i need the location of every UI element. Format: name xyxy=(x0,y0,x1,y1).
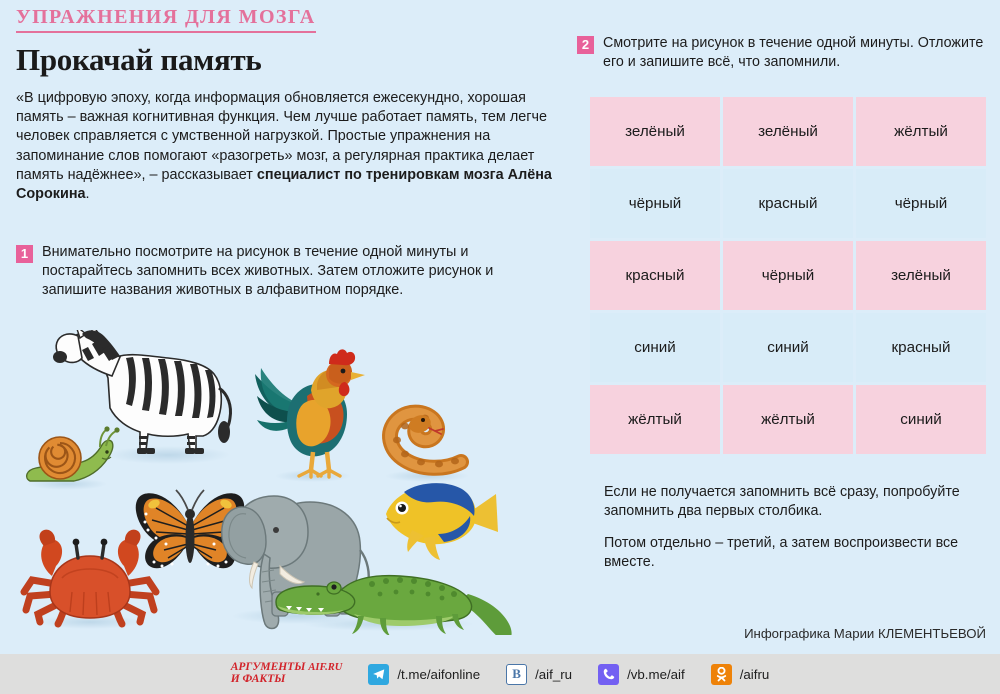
table-cell: синий xyxy=(856,385,986,454)
social-link-viber[interactable]: /vb.me/aif xyxy=(598,664,685,685)
page-title: Прокачай память xyxy=(16,42,572,78)
rooster-illustration xyxy=(255,349,365,482)
left-column: УПРАЖНЕНИЯ ДЛЯ МОЗГА Прокачай память «В … xyxy=(16,6,572,204)
social-label-vk: /aif_ru xyxy=(535,667,572,682)
infographic-page: УПРАЖНЕНИЯ ДЛЯ МОЗГА Прокачай память «В … xyxy=(0,0,1000,694)
credit-line: Инфографика Марии КЛЕМЕНТЬЕВОЙ xyxy=(744,626,986,641)
instruction-step-1: 1 Внимательно посмотрите на рисунок в те… xyxy=(16,243,536,300)
table-cell: жёлтый xyxy=(590,385,720,454)
table-cell: чёрный xyxy=(856,169,986,238)
social-link-vk[interactable]: B /aif_ru xyxy=(506,664,572,685)
table-cell: красный xyxy=(856,313,986,382)
intro-text-part-2: . xyxy=(86,186,90,202)
aif-logo: АРГУМЕНТЫ И ФАКТЫ AIF.RU xyxy=(231,662,343,685)
viber-icon xyxy=(598,664,619,685)
kicker-label: УПРАЖНЕНИЯ ДЛЯ МОЗГА xyxy=(16,6,316,33)
intro-paragraph: «В цифровую эпоху, когда информация обно… xyxy=(16,89,564,204)
snail-illustration xyxy=(27,426,120,490)
vk-icon: B xyxy=(506,664,527,685)
table-cell: синий xyxy=(590,313,720,382)
odnoklassniki-icon xyxy=(711,664,732,685)
table-cell: зелёный xyxy=(590,97,720,166)
aif-logo-line-2: И ФАКТЫ xyxy=(231,674,306,686)
table-cell: красный xyxy=(723,169,853,238)
instruction-step-2: 2 Смотрите на рисунок в течение одной ми… xyxy=(577,34,989,72)
step-number-badge-1: 1 xyxy=(16,245,33,263)
social-label-odnoklassniki: /aifru xyxy=(740,667,770,682)
telegram-icon xyxy=(368,664,389,685)
social-link-telegram[interactable]: /t.me/aifonline xyxy=(368,664,480,685)
table-cell: красный xyxy=(590,241,720,310)
table-cell: чёрный xyxy=(590,169,720,238)
table-cell: зелёный xyxy=(856,241,986,310)
table-cell: чёрный xyxy=(723,241,853,310)
fish-illustration xyxy=(386,483,498,560)
tip-block: Если не получается запомнить всё сразу, … xyxy=(604,483,994,572)
crab-illustration xyxy=(24,530,156,629)
aif-logo-text: АРГУМЕНТЫ И ФАКТЫ xyxy=(231,662,306,685)
step-text-2: Смотрите на рисунок в течение одной мину… xyxy=(603,34,989,72)
step-text-1: Внимательно посмотрите на рисунок в тече… xyxy=(42,243,536,300)
table-cell: синий xyxy=(723,313,853,382)
social-label-viber: /vb.me/aif xyxy=(627,667,685,682)
social-link-odnoklassniki[interactable]: /aifru xyxy=(711,664,770,685)
step-number-badge-2: 2 xyxy=(577,36,594,54)
aif-logo-domain: AIF.RU xyxy=(308,662,342,673)
snake-illustration xyxy=(385,412,469,482)
table-cell: жёлтый xyxy=(723,385,853,454)
color-words-table: зелёный зелёный жёлтый чёрный красный чё… xyxy=(590,97,986,454)
table-cell: жёлтый xyxy=(856,97,986,166)
tip-paragraph-2: Потом отдельно – третий, а затем воспрои… xyxy=(604,534,994,572)
zebra-illustration xyxy=(53,330,231,464)
tip-paragraph-1: Если не получается запомнить всё сразу, … xyxy=(604,483,994,521)
footer-bar: АРГУМЕНТЫ И ФАКТЫ AIF.RU /t.me/aifonline… xyxy=(0,654,1000,694)
social-label-telegram: /t.me/aifonline xyxy=(397,667,480,682)
animals-illustration xyxy=(0,330,575,635)
table-cell: зелёный xyxy=(723,97,853,166)
